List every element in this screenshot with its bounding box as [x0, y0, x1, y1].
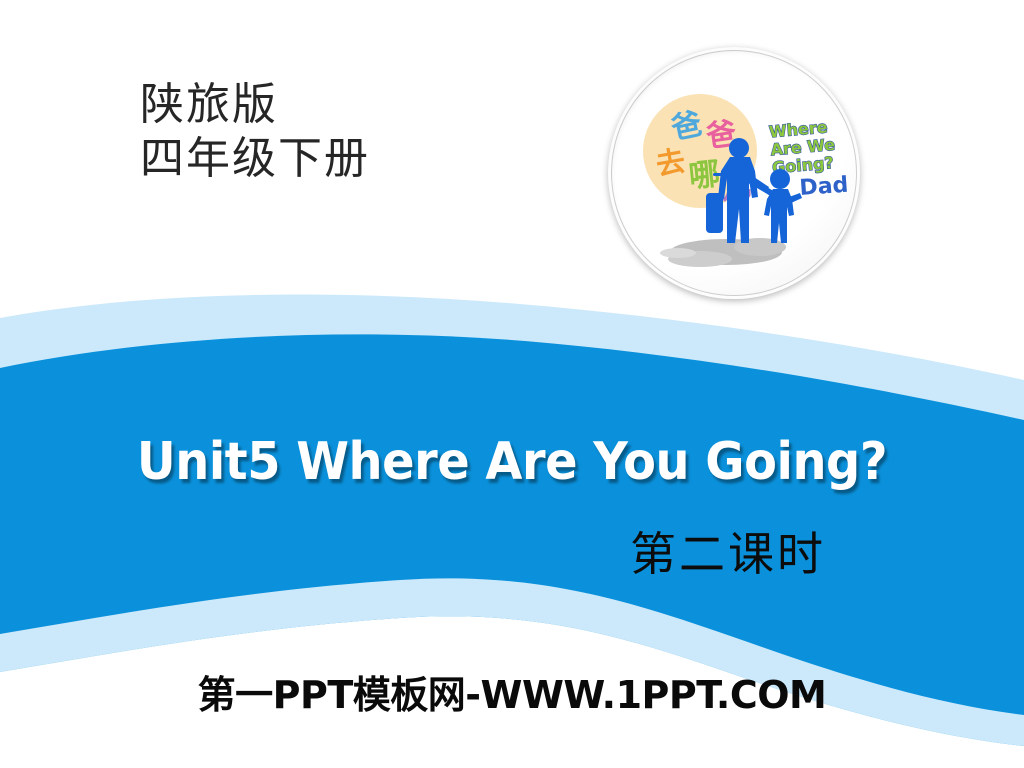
publisher-label: 陕旅版 — [140, 78, 370, 132]
header-text-block: 陕旅版 四年级下册 — [140, 78, 370, 185]
presentation-slide: 陕旅版 四年级下册 爸 爸 去 哪 儿 Where Are We — [0, 0, 1024, 768]
badge-artwork: 爸 爸 去 哪 儿 Where Are We Going? — [608, 47, 860, 299]
slide-main-title: Unit5 Where Are You Going? — [41, 432, 983, 492]
grade-label: 四年级下册 — [140, 132, 370, 186]
english-logo-text: Where Are We Going? — [768, 117, 837, 177]
logo-card: 爸 爸 去 哪 儿 Where Are We Going? — [590, 25, 886, 310]
dad-wordmark: Dad — [799, 173, 849, 201]
show-logo-badge: 爸 爸 去 哪 儿 Where Are We Going? — [608, 47, 860, 299]
slide-subtitle: 第二课时 — [630, 518, 826, 584]
char-qu: 去 — [653, 143, 687, 182]
ground-shadow — [660, 238, 786, 267]
footer-watermark: 第一PPT模板网-WWW.1PPT.COM — [0, 664, 1024, 719]
child-silhouette — [759, 169, 802, 243]
